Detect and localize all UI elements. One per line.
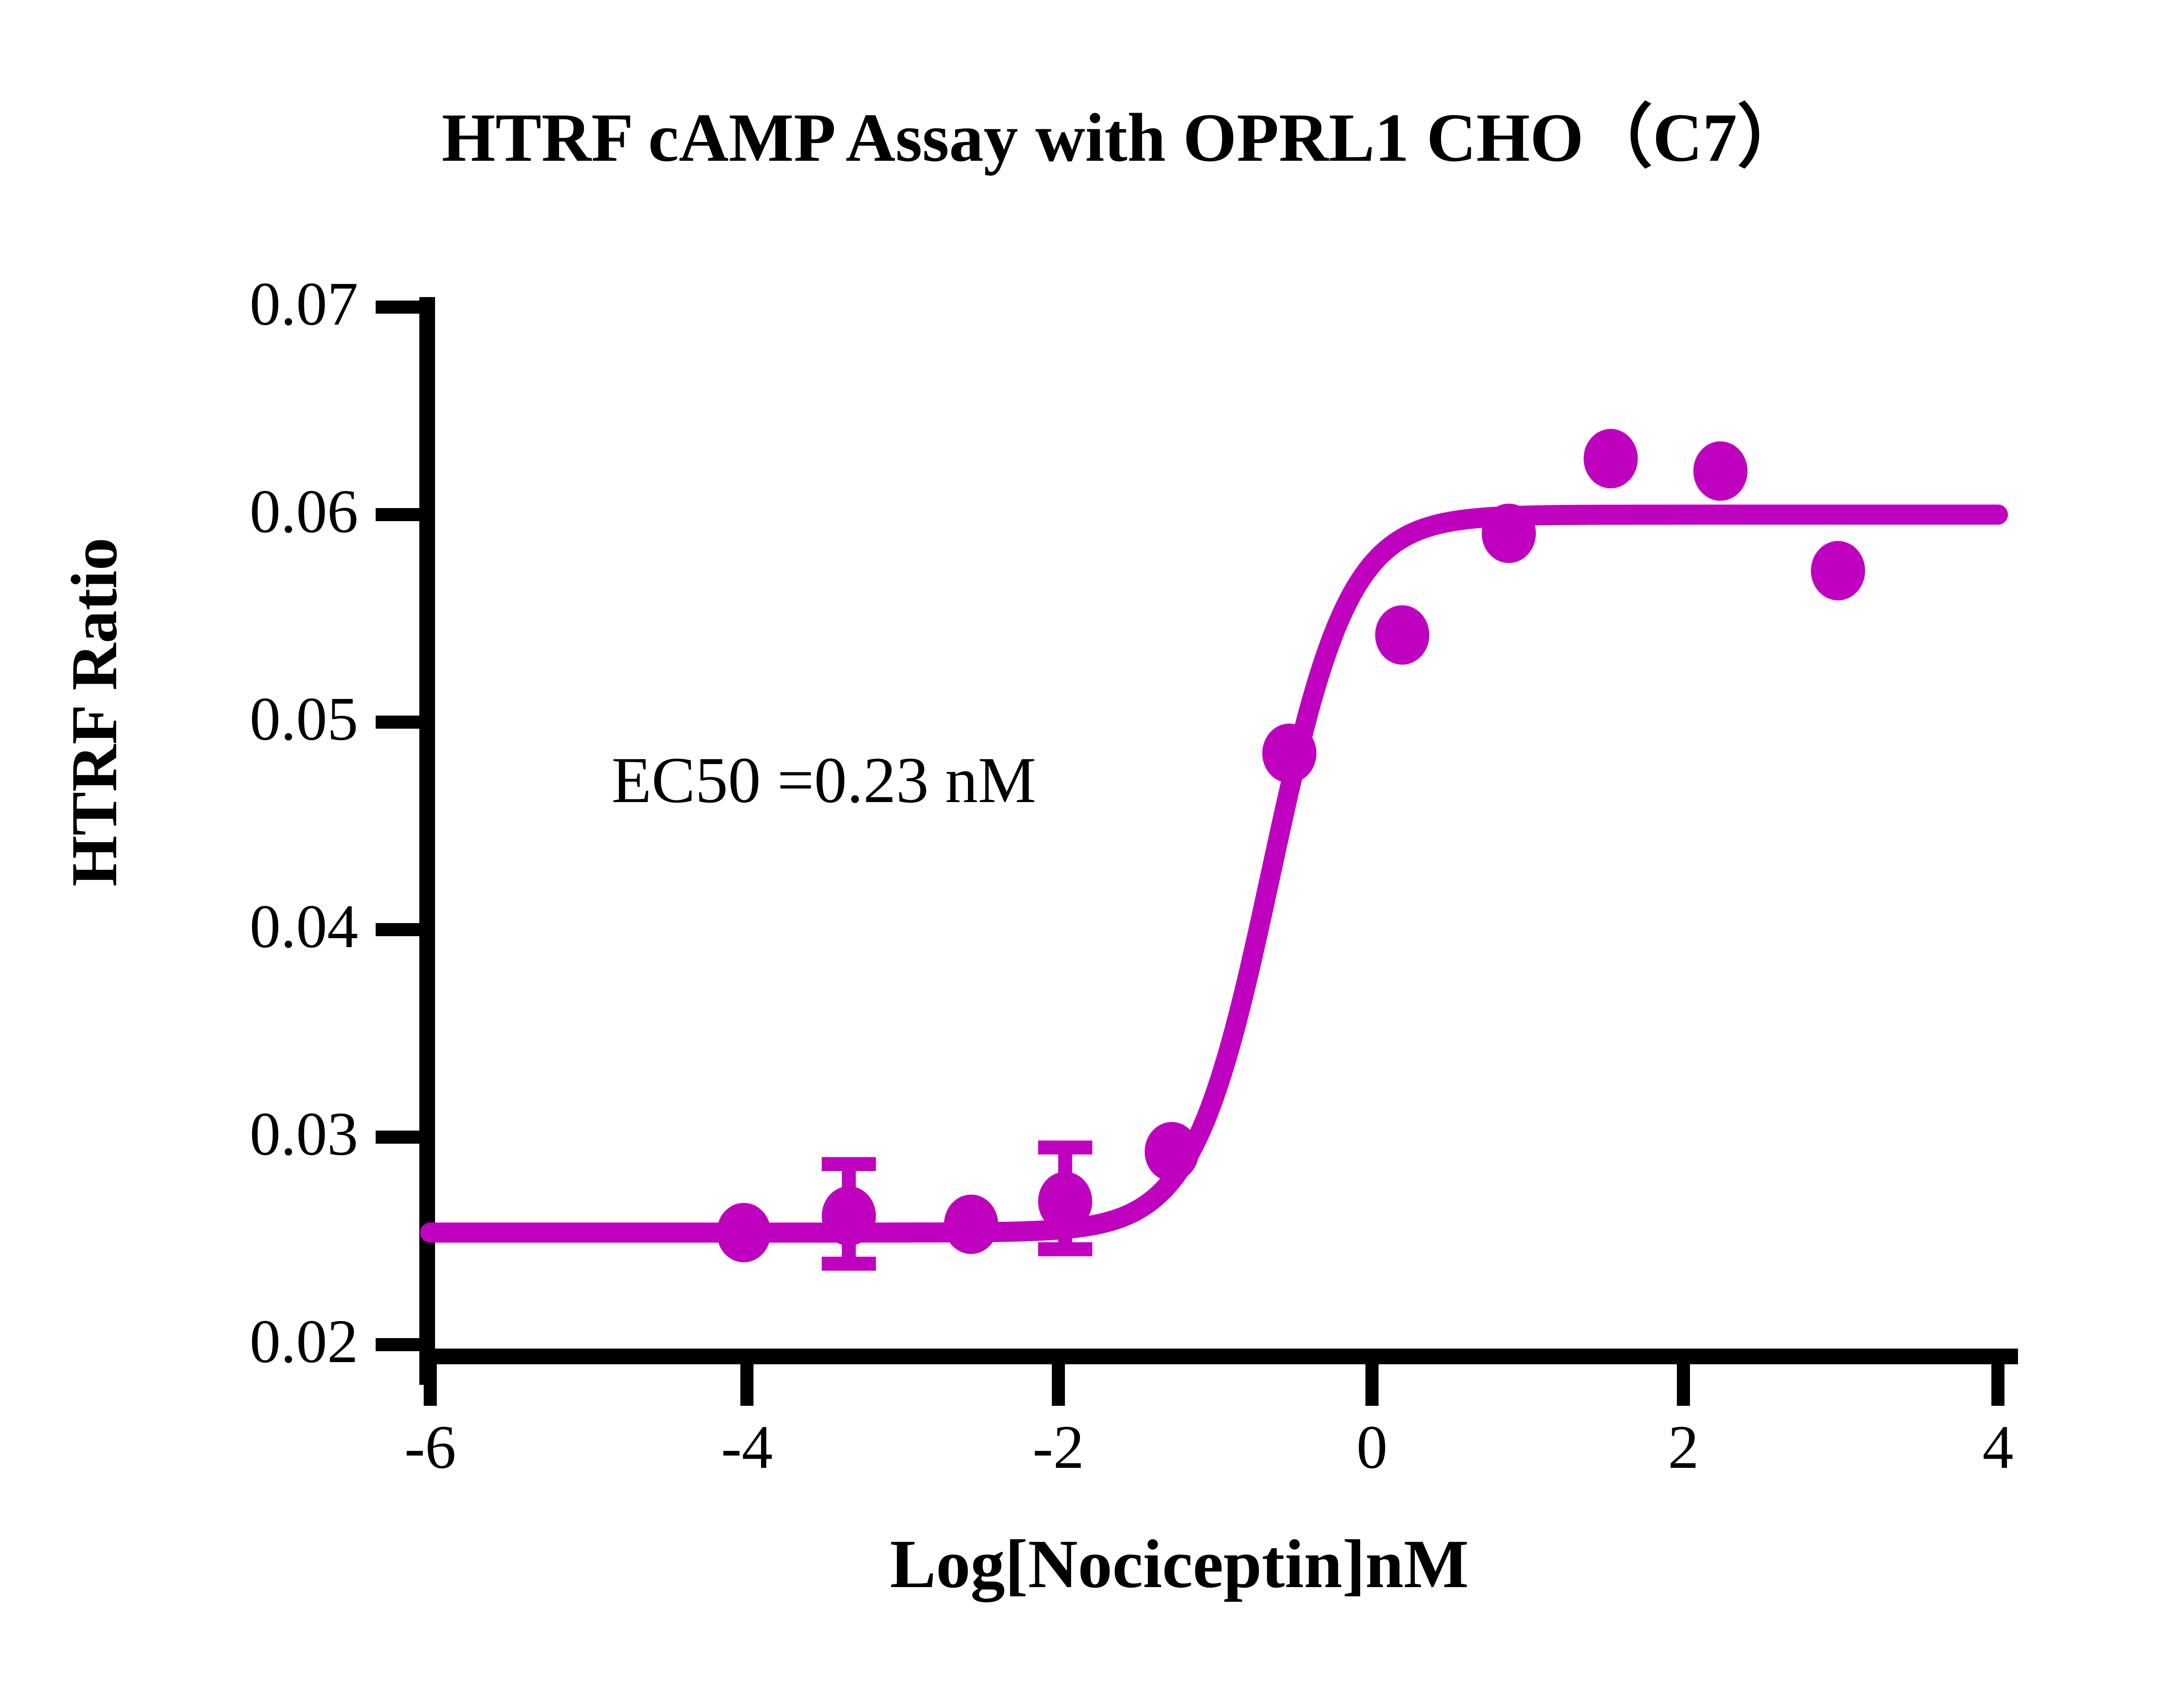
data-point-marker <box>1375 605 1429 665</box>
axis-spines <box>419 297 2018 1385</box>
plot-canvas <box>0 0 2184 1695</box>
data-point-marker <box>822 1186 876 1246</box>
fit-curve <box>430 515 1998 1233</box>
data-point-marker <box>1811 541 1865 600</box>
data-point-marker <box>1038 1172 1092 1231</box>
data-point-marker <box>1482 504 1536 563</box>
data-point-marker <box>1584 429 1638 488</box>
data-points <box>717 429 1865 1263</box>
fit-curve-path <box>430 515 1998 1233</box>
data-point-marker <box>944 1195 998 1254</box>
data-point-marker <box>1693 441 1748 501</box>
data-point-marker <box>1262 723 1317 783</box>
chart-root: HTRF cAMP Assay with OPRL1 CHO（C7） HTRF … <box>0 0 2184 1695</box>
data-point-marker <box>1145 1122 1199 1181</box>
data-point-marker <box>717 1203 771 1263</box>
